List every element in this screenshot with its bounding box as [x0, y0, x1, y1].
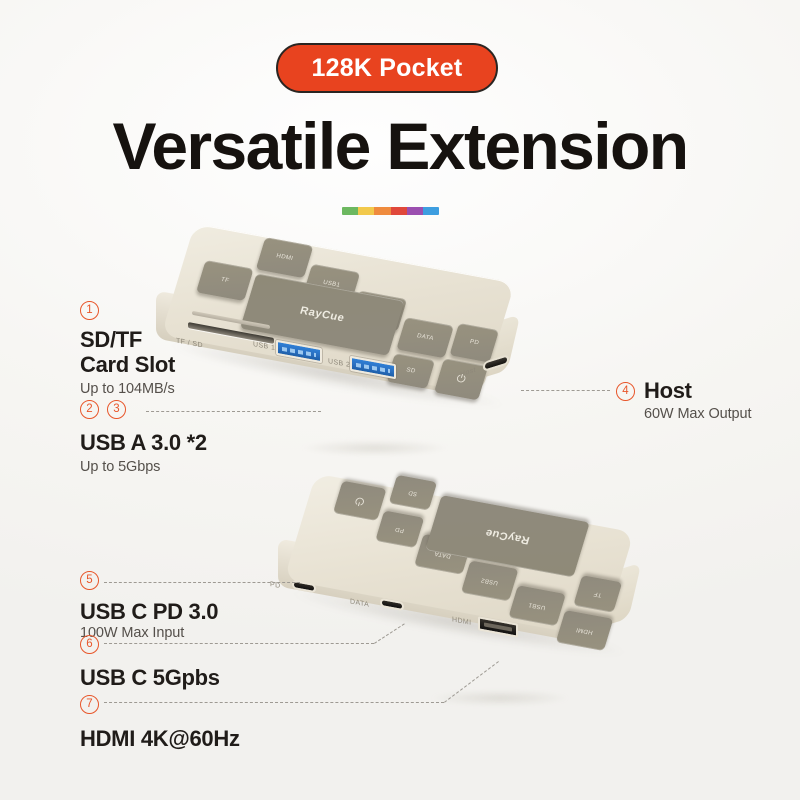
power-key-bottom[interactable]: ⏻	[333, 481, 387, 521]
callout-usb-c-pd: 5 USB C PD 3.0 100W Max Input	[80, 570, 218, 641]
key-usb1-bottom[interactable]: USB1	[508, 585, 566, 626]
key-usb2-bottom[interactable]: USB2	[461, 560, 519, 601]
callout-number-2: 2	[80, 400, 99, 419]
leader-line-usb-a	[146, 411, 321, 412]
callout-title-hdmi: HDMI 4K@60Hz	[80, 727, 240, 752]
rainbow-divider	[342, 207, 439, 215]
callout-sub-sd-tf: Up to 104MB/s	[80, 381, 175, 397]
callout-sd-tf: 1 SD/TF Card Slot Up to 104MB/s	[80, 300, 175, 397]
callout-number-3: 3	[107, 400, 126, 419]
callout-number-5: 5	[80, 571, 99, 590]
key-pd[interactable]: PD	[449, 323, 499, 363]
leader-line-hdmi	[104, 702, 444, 703]
leader-line-host	[521, 390, 610, 391]
callout-number-7: 7	[80, 695, 99, 714]
callout-number-6: 6	[80, 635, 99, 654]
callout-title-card-slot: Card Slot	[80, 353, 175, 378]
callout-title-host: Host	[644, 379, 692, 404]
product-infographic: 128K Pocket Versatile Extension HDMI USB…	[0, 0, 800, 800]
key-tf[interactable]: TF	[196, 260, 254, 301]
rainbow-segment-red	[391, 207, 407, 215]
callout-number-4: 4	[616, 382, 635, 401]
key-hdmi[interactable]: HDMI	[256, 237, 314, 278]
callout-title-usb-a: USB A 3.0 *2	[80, 431, 207, 456]
callout-title-usb-c-pd: USB C PD 3.0	[80, 600, 218, 625]
key-tf-bottom[interactable]: TF	[573, 575, 622, 613]
callout-sub-host: 60W Max Output	[644, 406, 751, 422]
callout-host: 4 Host 60W Max Output	[616, 379, 751, 422]
reflection-bottom	[430, 690, 570, 706]
rainbow-segment-yellow	[358, 207, 374, 215]
rainbow-segment-purple	[407, 207, 423, 215]
bottom-device: ⏻ SD PD DATA USB2 USB1 HDMI TF RayCue PD…	[230, 490, 660, 705]
reflection-top	[300, 440, 450, 456]
product-badge: 128K Pocket	[276, 43, 498, 93]
rainbow-segment-orange	[374, 207, 390, 215]
callout-title-sd-tf: SD/TF	[80, 328, 175, 353]
callout-number-1: 1	[80, 301, 99, 320]
leader-line-usb-c-pd	[104, 582, 300, 583]
key-pd-bottom[interactable]: PD	[375, 510, 424, 548]
rainbow-segment-green	[342, 207, 358, 215]
key-data[interactable]: DATA	[396, 317, 454, 358]
callout-title-usb-c-data: USB C 5Gpbs	[80, 666, 220, 691]
callout-sub-usb-a: Up to 5Gbps	[80, 459, 207, 475]
leader-line-usb-c-data	[104, 643, 374, 644]
page-title: Versatile Extension	[0, 113, 800, 179]
key-sd-bottom[interactable]: SD	[389, 475, 438, 511]
rainbow-segment-blue	[423, 207, 439, 215]
badge-label: 128K Pocket	[312, 54, 463, 83]
